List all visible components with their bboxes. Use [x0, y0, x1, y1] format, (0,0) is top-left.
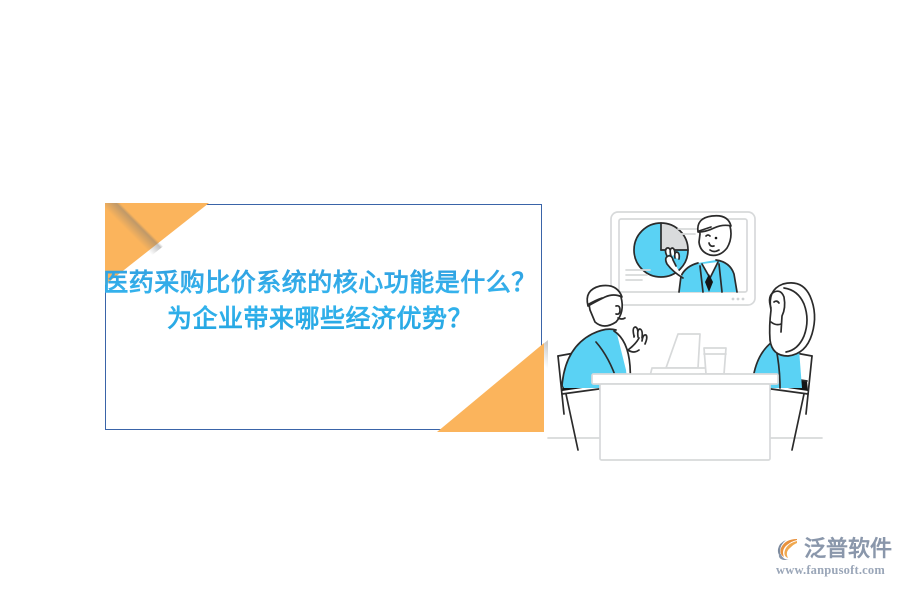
attendee-right: [752, 283, 815, 388]
screenshot-canvas: 医药采购比价系统的核心功能是什么？ 为企业带来哪些经济优势？ .ln { fil…: [0, 0, 900, 600]
brand-name: 泛普软件: [804, 536, 892, 562]
pie-chart: [634, 223, 688, 277]
headline-line-2: 为企业带来哪些经济优势？: [60, 302, 580, 338]
wall-display: [611, 212, 755, 305]
video-conference-illustration: .ln { fill:none; stroke:#2b2b2b; stroke-…: [540, 198, 830, 463]
laptop: [650, 334, 712, 376]
conference-table: [592, 374, 778, 460]
headline-line-1: 医药采购比价系统的核心功能是什么？: [60, 266, 580, 302]
page-title: 医药采购比价系统的核心功能是什么？ 为企业带来哪些经济优势？: [60, 266, 580, 338]
brand-website: www.fanpusoft.com: [775, 563, 893, 577]
fanpu-circle-mark-icon: [775, 536, 801, 562]
brand-logo: 泛普软件 www.fanpusoft.com: [775, 536, 893, 584]
